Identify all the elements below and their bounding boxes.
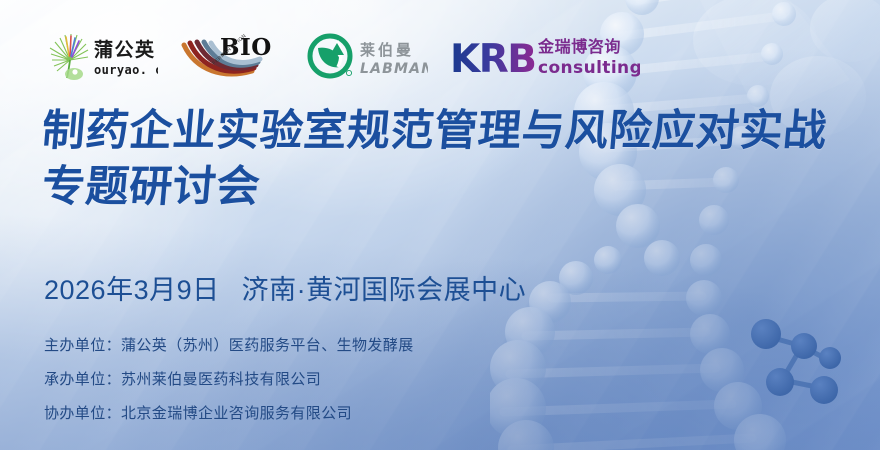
date-venue: 2026年3月9日 济南·黄河国际会展中心 — [44, 268, 526, 307]
svg-text:蒲公英: 蒲公英 — [94, 38, 156, 61]
svg-text:consulting: consulting — [538, 58, 640, 78]
svg-text:LABMAN: LABMAN — [360, 61, 428, 77]
svg-text:金瑞博咨询: 金瑞博咨询 — [537, 37, 621, 56]
dandelion-icon: 蒲公英 ouryao. com — [42, 30, 158, 82]
page-title: 制药企业实验室规范管理与风险应对实战 专题研讨会 — [42, 104, 827, 216]
logo-ouryao[interactable]: 蒲公英 ouryao. com — [42, 28, 158, 84]
organizer-host: 主办单位：蒲公英（苏州）医药服务平台、生物发酵展 — [44, 334, 414, 355]
sponsor-logo-strip: 蒲公英 ouryao. com BIO FERMENTATION — [42, 28, 640, 84]
svg-text:ouryao. com: ouryao. com — [94, 63, 158, 77]
event-date: 2026年3月9日 — [44, 268, 220, 307]
krb-wordmark-icon: KRB 金瑞博咨询 consulting — [450, 30, 640, 82]
title-line-1: 制药企业实验室规范管理与风险应对实战 — [40, 104, 830, 160]
organizer-list: 主办单位：蒲公英（苏州）医药服务平台、生物发酵展 承办单位：苏州莱伯曼医药科技有… — [44, 334, 414, 423]
svg-text:KRB: KRB — [450, 37, 535, 82]
title-line-2: 专题研讨会 — [40, 160, 830, 216]
organizer-undertaker: 承办单位：苏州莱伯曼医药科技有限公司 — [44, 368, 414, 389]
logo-labman[interactable]: 莱伯曼 LABMAN — [306, 28, 428, 84]
svg-text:莱伯曼: 莱伯曼 — [360, 41, 414, 59]
organizer-coorganizer: 协办单位：北京金瑞博企业咨询服务有限公司 — [44, 402, 414, 423]
conference-banner: 蒲公英 ouryao. com BIO FERMENTATION — [0, 0, 880, 450]
event-venue: 济南·黄河国际会展中心 — [242, 268, 527, 307]
logo-bio[interactable]: BIO FERMENTATION — [180, 28, 284, 84]
leaf-circle-icon: 莱伯曼 LABMAN — [306, 31, 428, 81]
swoosh-arcs-icon: BIO FERMENTATION — [180, 31, 284, 81]
logo-krb[interactable]: KRB 金瑞博咨询 consulting — [450, 28, 640, 84]
